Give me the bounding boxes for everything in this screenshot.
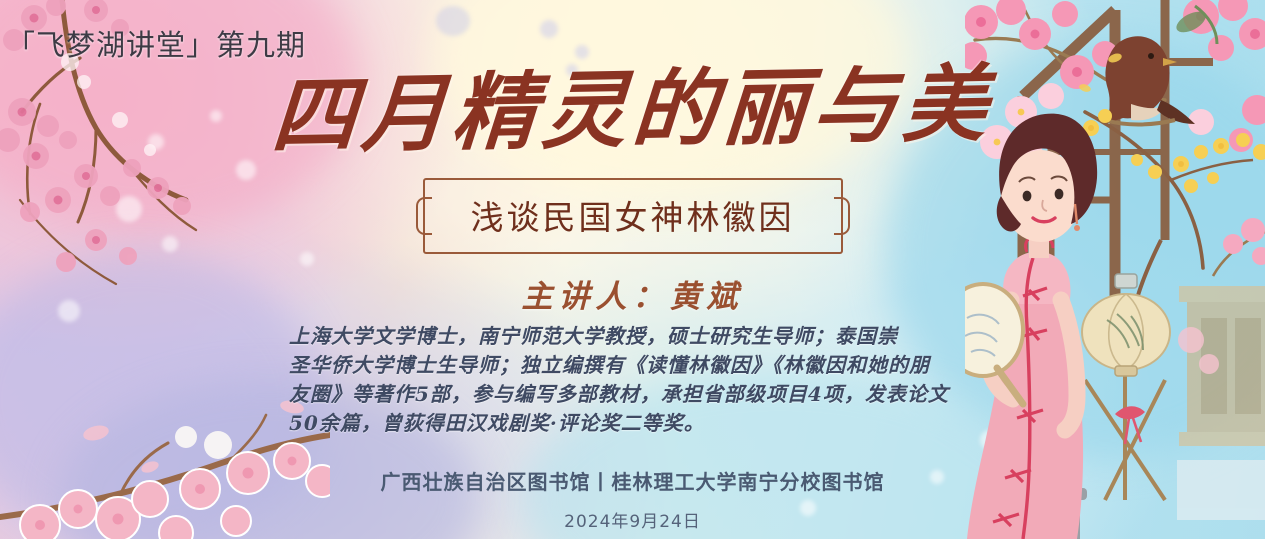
bio-line: 上海大学文学博士，南宁师范大学教授，硕士研究生导师；泰国崇 (289, 322, 989, 351)
bokeh-dot (540, 20, 558, 38)
event-date: 2024年9月24日 (0, 507, 1265, 532)
speaker-biography: 上海大学文学博士，南宁师范大学教授，硕士研究生导师；泰国崇 圣华侨大学博士生导师… (289, 322, 989, 438)
bio-line: 友圈》等著作5部，参与编写多部教材，承担省部级项目4项，发表论文 (289, 380, 989, 409)
bokeh-dot (575, 45, 589, 59)
poster-canvas: 「飞梦湖讲堂」第九期 四月精灵的丽与美 浅谈民国女神林徽因 主讲人：黄斌 上海大… (0, 0, 1265, 539)
bio-line: 圣华侨大学博士生导师；独立编撰有《读懂林徽因》《林徽因和她的朋 (289, 351, 989, 380)
subtitle-frame-wrap: 浅谈民国女神林徽因 (423, 178, 843, 254)
subtitle-text: 浅谈民国女神林徽因 (471, 191, 795, 239)
speaker-line: 主讲人：黄斌 (0, 271, 1265, 316)
organizer-line: 广西壮族自治区图书馆丨桂林理工大学南宁分校图书馆 (0, 466, 1265, 495)
series-kicker: 「飞梦湖讲堂」第九期 (6, 22, 306, 64)
subtitle-frame: 浅谈民国女神林徽因 (423, 178, 843, 254)
bokeh-dot (436, 6, 470, 36)
bio-line: 50余篇，曾荻得田汉戏剧奖·评论奖二等奖。 (289, 409, 989, 438)
